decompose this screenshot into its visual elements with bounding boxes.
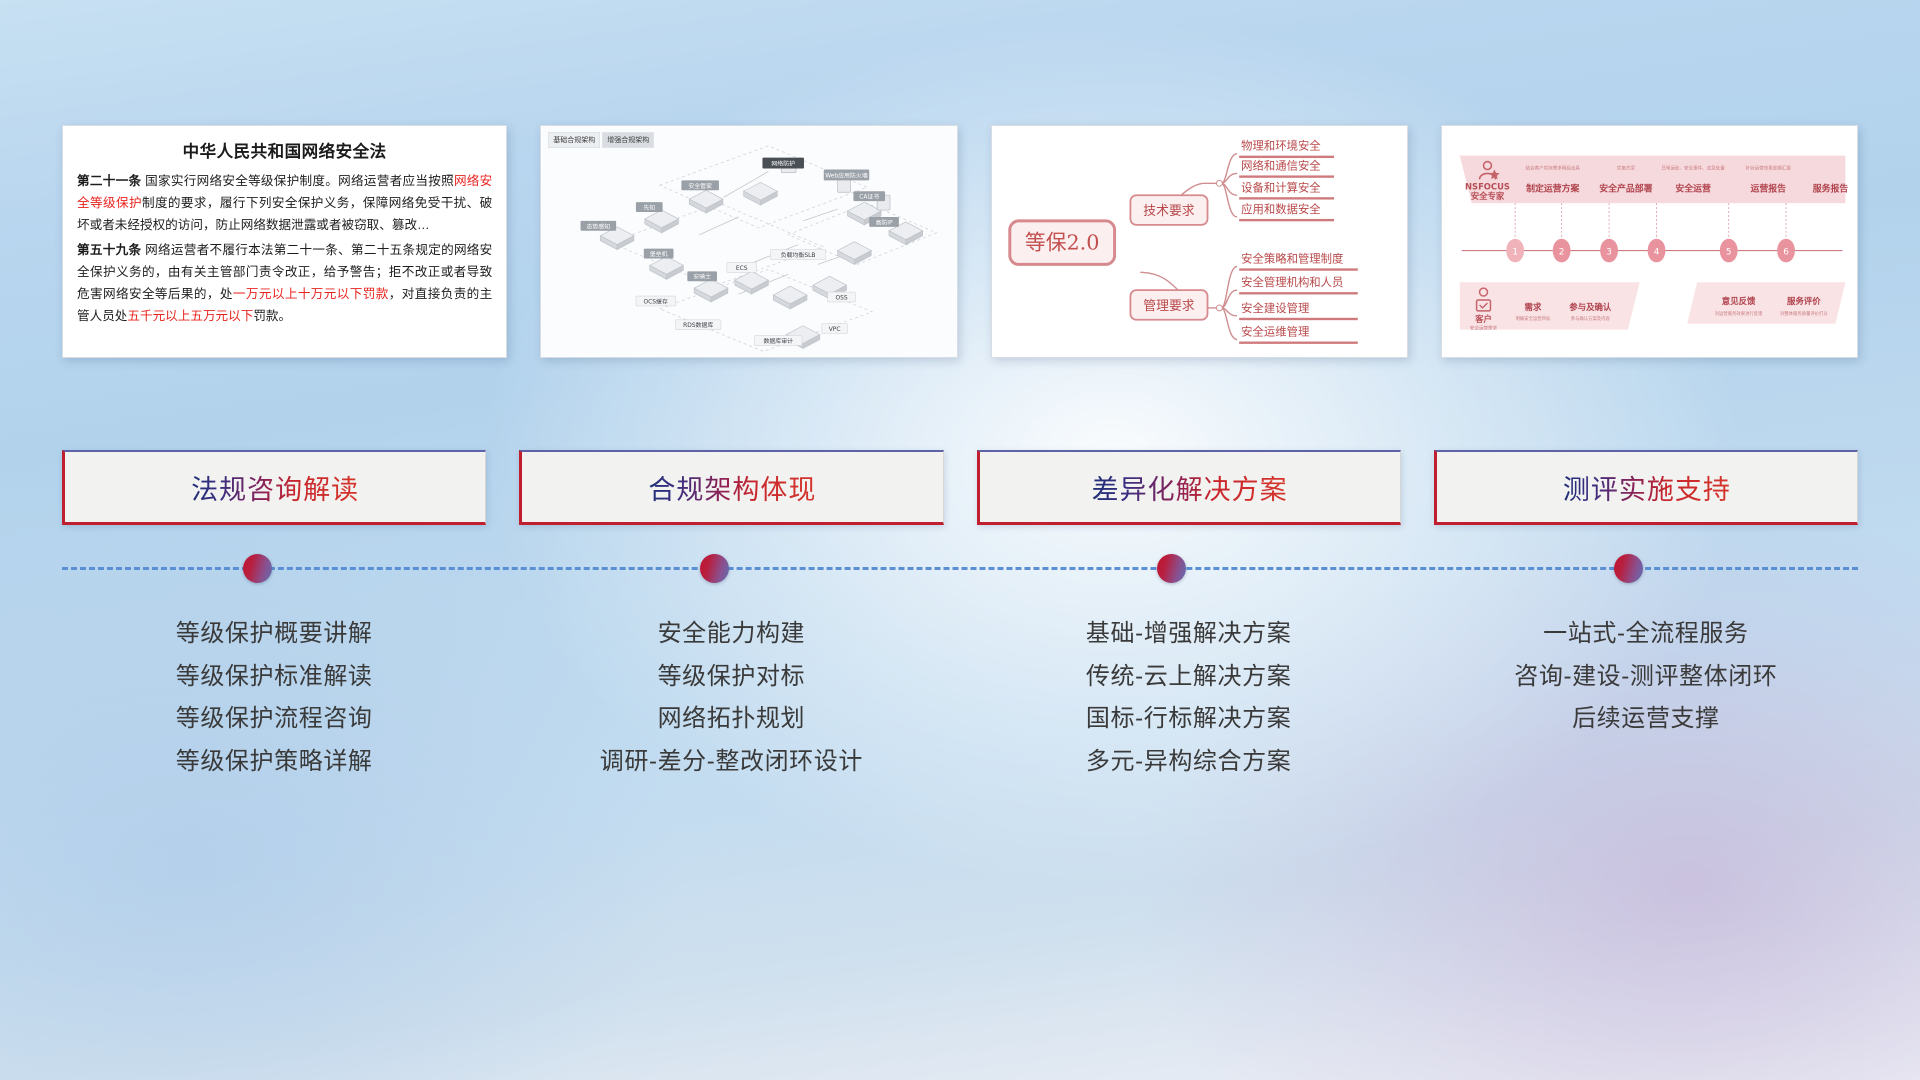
list-item: 一站式-全流程服务 (1434, 613, 1858, 656)
svg-text:安全管理机构和人员: 安全管理机构和人员 (1241, 275, 1343, 289)
timeline-dot-3[interactable] (1157, 554, 1186, 583)
column-compliance-architecture: 安全能力构建 等级保护对标 网络拓扑规划 调研-差分-整改闭环设计 (519, 605, 943, 805)
law-article-59-label: 第五十九条 (77, 243, 141, 257)
svg-text:安全建设管理: 安全建设管理 (1241, 301, 1309, 315)
thumbnail-architecture-diagram[interactable]: 基础合规架构 增强合规架构 (540, 125, 957, 358)
banner-compliance-architecture[interactable]: 合规架构体现 (519, 450, 943, 525)
timeline-dashed-line (62, 567, 1858, 570)
svg-text:应用和数据安全: 应用和数据安全 (1241, 202, 1321, 216)
svg-text:安全运维管理: 安全运维管理 (1241, 325, 1309, 339)
svg-text:网络和通信安全: 网络和通信安全 (1241, 159, 1321, 173)
svg-text:安全专家: 安全专家 (1470, 191, 1504, 201)
banner-regulation-consulting[interactable]: 法规咨询解读 (62, 450, 486, 525)
svg-text:参与及确认: 参与及确认 (1568, 302, 1612, 312)
law-article-59-text-c: 罚款。 (253, 309, 291, 323)
svg-text:针对运营效果定期汇报: 针对运营效果定期汇报 (1745, 165, 1791, 172)
svg-text:日常运处、安全事件、应急处置: 日常运处、安全事件、应急处置 (1661, 165, 1725, 172)
banner-label: 测评实施支持 (1563, 468, 1731, 507)
svg-text:Web应用防火墙: Web应用防火墙 (825, 171, 868, 179)
svg-text:结合客户实际需求明后出具: 结合客户实际需求明后出具 (1525, 165, 1580, 172)
svg-text:2: 2 (1559, 248, 1565, 258)
svg-text:OSS: OSS (836, 295, 848, 302)
law-article-59-highlight-1: 一万元以上十万元以下罚款 (233, 287, 389, 301)
roadmap-svg: NSFOCUS 安全专家 结合客户实际需求明后出具 实施方案 日常运处、安全事件… (1442, 126, 1857, 356)
svg-text:安全策略和管理制度: 安全策略和管理制度 (1241, 251, 1343, 265)
column-regulation-consulting: 等级保护概要讲解 等级保护标准解读 等级保护流程咨询 等级保护策略详解 (62, 605, 486, 805)
svg-text:CA证书: CA证书 (859, 193, 879, 201)
svg-text:堡垒机: 堡垒机 (650, 250, 668, 258)
column-assessment-support: 一站式-全流程服务 咨询-建设-测评整体闭环 后续运营支撑 (1434, 605, 1858, 805)
banner-row: 法规咨询解读 合规架构体现 差异化解决方案 测评实施支持 (62, 450, 1858, 525)
list-item: 咨询-建设-测评整体闭环 (1434, 656, 1858, 699)
svg-text:安全管家: 安全管家 (689, 182, 713, 190)
thumbnail-mindmap[interactable]: 等保2.0 技术要求 管理要求 物理和环境安全 网络和通信安全 设备和计算安全 … (991, 125, 1408, 358)
list-item: 等级保护概要讲解 (62, 613, 486, 656)
svg-text:设备和计算安全: 设备和计算安全 (1241, 180, 1321, 194)
law-paragraph-21: 第二十一条 国家实行网络安全等级保护制度。网络运营者应当按照网络安全等级保护制度… (77, 171, 492, 236)
svg-text:ECS: ECS (736, 265, 748, 272)
svg-text:物理和环境安全: 物理和环境安全 (1241, 139, 1321, 153)
svg-text:安全产品部署: 安全产品部署 (1599, 182, 1652, 194)
svg-text:运营报告: 运营报告 (1750, 182, 1786, 194)
svg-text:5: 5 (1726, 248, 1732, 258)
law-article-21-label: 第二十一条 (77, 174, 141, 188)
svg-text:1: 1 (1512, 248, 1518, 258)
svg-text:安骑士: 安骑士 (694, 273, 712, 281)
list-item: 等级保护对标 (519, 656, 943, 699)
list-item: 后续运营支撑 (1434, 698, 1858, 741)
banner-differentiated-solution[interactable]: 差异化解决方案 (977, 450, 1401, 525)
svg-text:OCS缓存: OCS缓存 (644, 297, 668, 305)
svg-text:VPC: VPC (829, 326, 841, 333)
svg-text:客户: 客户 (1474, 314, 1492, 324)
svg-text:服务报告: 服务报告 (1813, 182, 1849, 194)
banner-label: 合规架构体现 (648, 468, 816, 507)
svg-text:负载均衡SLB: 负载均衡SLB (781, 251, 816, 259)
svg-text:4: 4 (1653, 248, 1659, 258)
svg-text:NSFOCUS: NSFOCUS (1465, 181, 1510, 191)
list-item: 多元-异构综合方案 (977, 741, 1401, 784)
law-article-21-text-a: 国家实行网络安全等级保护制度。网络运营者应当按照 (145, 174, 454, 188)
svg-text:RDS数据库: RDS数据库 (683, 321, 713, 329)
list-item: 安全能力构建 (519, 613, 943, 656)
mindmap-svg: 等保2.0 技术要求 管理要求 物理和环境安全 网络和通信安全 设备和计算安全 … (992, 126, 1407, 356)
svg-text:对整体服务质量评价打分: 对整体服务质量评价打分 (1780, 310, 1828, 317)
column-list-row: 等级保护概要讲解 等级保护标准解读 等级保护流程咨询 等级保护策略详解 安全能力… (62, 605, 1858, 805)
svg-text:实施方案: 实施方案 (1617, 165, 1636, 172)
svg-text:技术要求: 技术要求 (1143, 204, 1195, 219)
thumbnail-row: 中华人民共和国网络安全法 第二十一条 国家实行网络安全等级保护制度。网络运营者应… (62, 125, 1858, 358)
list-item: 网络拓扑规划 (519, 698, 943, 741)
timeline-dot-4[interactable] (1614, 554, 1643, 583)
svg-text:先知: 先知 (644, 204, 656, 212)
svg-text:需求: 需求 (1524, 302, 1541, 312)
banner-label: 差异化解决方案 (1092, 468, 1288, 507)
list-item: 基础-增强解决方案 (977, 613, 1401, 656)
law-title: 中华人民共和国网络安全法 (77, 138, 492, 162)
svg-text:管理要求: 管理要求 (1143, 299, 1195, 314)
svg-text:对运营服务效果进行反馈: 对运营服务效果进行反馈 (1714, 310, 1762, 317)
timeline-dot-2[interactable] (700, 554, 729, 583)
svg-text:数据库审计: 数据库审计 (764, 337, 794, 345)
banner-label: 法规咨询解读 (191, 468, 359, 507)
svg-text:意见反馈: 意见反馈 (1722, 296, 1756, 306)
thumbnail-roadmap[interactable]: NSFOCUS 安全专家 结合客户实际需求明后出具 实施方案 日常运处、安全事件… (1441, 125, 1858, 358)
list-item: 等级保护标准解读 (62, 656, 486, 699)
column-differentiated-solution: 基础-增强解决方案 传统-云上解决方案 国标-行标解决方案 多元-异构综合方案 (977, 605, 1401, 805)
svg-text:6: 6 (1783, 248, 1789, 258)
timeline (62, 567, 1858, 569)
svg-text:安全运营需求: 安全运营需求 (1470, 325, 1498, 332)
list-item: 等级保护流程咨询 (62, 698, 486, 741)
thumbnail-law-document[interactable]: 中华人民共和国网络安全法 第二十一条 国家实行网络安全等级保护制度。网络运营者应… (62, 125, 507, 358)
svg-text:制定运营方案: 制定运营方案 (1526, 182, 1579, 194)
list-item: 等级保护策略详解 (62, 741, 486, 784)
list-item: 国标-行标解决方案 (977, 698, 1401, 741)
svg-text:参与确认方案及内容: 参与确认方案及内容 (1571, 315, 1611, 322)
list-item: 调研-差分-整改闭环设计 (519, 741, 943, 784)
svg-text:高防IP: 高防IP (876, 218, 894, 226)
list-item: 传统-云上解决方案 (977, 656, 1401, 699)
svg-text:3: 3 (1606, 248, 1612, 258)
mindmap-root-label: 等保2.0 (1024, 231, 1099, 255)
architecture-svg: 态势感知 先知 安全管家 堡垒机 安骑士 网络防护 CA证书 高防IP Web应… (541, 126, 956, 356)
svg-text:明确安全运营目标: 明确安全运营目标 (1515, 315, 1550, 322)
banner-assessment-support[interactable]: 测评实施支持 (1434, 450, 1858, 525)
svg-text:安全运营: 安全运营 (1675, 182, 1711, 194)
timeline-dot-1[interactable] (243, 554, 272, 583)
svg-text:网络防护: 网络防护 (772, 160, 796, 168)
svg-text:服务评价: 服务评价 (1787, 296, 1821, 306)
svg-text:态势感知: 态势感知 (587, 222, 611, 230)
law-article-59-highlight-2: 五千元以上五万元以下 (127, 309, 253, 323)
law-paragraph-59: 第五十九条 网络运营者不履行本法第二十一条、第二十五条规定的网络安全保护义务的，… (77, 240, 492, 327)
